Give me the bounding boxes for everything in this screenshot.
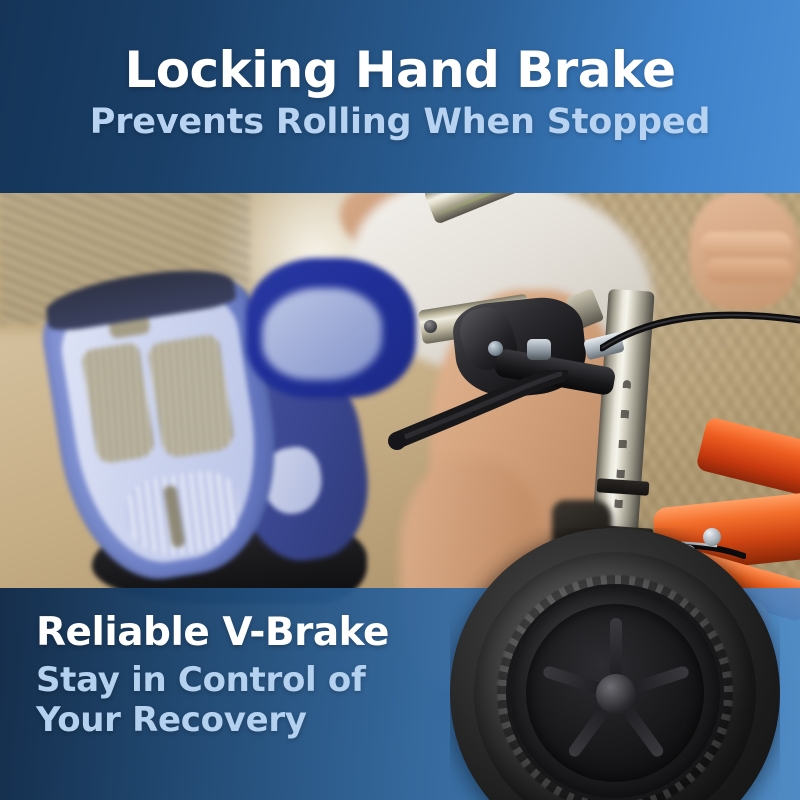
brake-cable-upper — [600, 300, 800, 430]
banner-subtitle-line-2: Your Recovery — [36, 700, 520, 740]
banner-subtitle: Stay in Control of Your Recovery — [36, 660, 520, 740]
frame-bolt-upper — [703, 528, 721, 546]
person-finger-lower — [706, 258, 792, 282]
brake-lever-clamp-bolt — [424, 320, 437, 333]
ankle-brace-strap — [262, 288, 382, 380]
locking-brake-lever-blade — [384, 370, 570, 450]
page-subtitle: Prevents Rolling When Stopped — [90, 104, 710, 141]
banner-title: Reliable V-Brake — [36, 612, 520, 653]
header-content: Locking Hand Brake Prevents Rolling When… — [0, 0, 800, 193]
person-finger-upper — [700, 232, 792, 258]
page-title: Locking Hand Brake — [125, 44, 676, 96]
bottom-banner-content: Reliable V-Brake Stay in Control of Your… — [0, 588, 520, 800]
product-feature-card: Locking Hand Brake Prevents Rolling When… — [0, 0, 800, 800]
frame-bolt-lower — [681, 545, 696, 560]
banner-subtitle-line-1: Stay in Control of — [36, 660, 520, 700]
cable-barrel-adjuster — [527, 339, 551, 360]
brake-lever-adjuster-bolt — [488, 341, 503, 356]
